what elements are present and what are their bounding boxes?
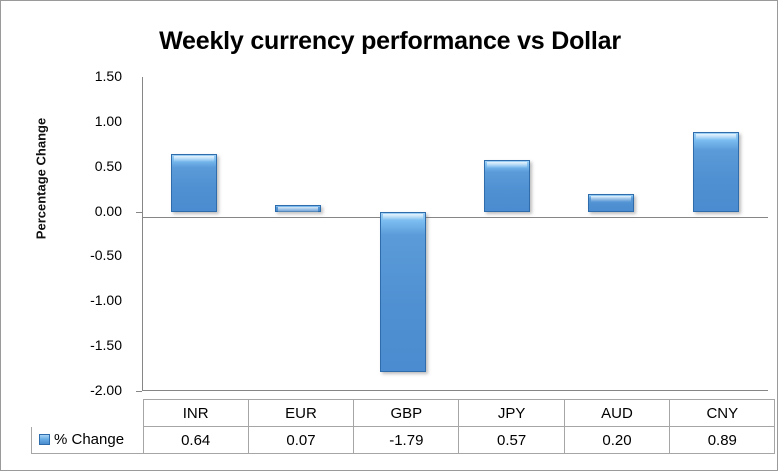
table-value-cny: 0.89 xyxy=(670,427,775,454)
legend-series-label: % Change xyxy=(54,431,124,448)
bar-jpy[interactable] xyxy=(484,160,530,211)
y-axis-tick-label: -1.00 xyxy=(52,292,122,308)
table-value-jpy: 0.57 xyxy=(459,427,564,454)
bar-slot-jpy xyxy=(455,77,559,391)
bars-layer xyxy=(142,77,768,391)
table-category-eur: EUR xyxy=(248,400,353,427)
chart-title: Weekly currency performance vs Dollar xyxy=(1,27,778,56)
y-axis-title: Percentage Change xyxy=(34,79,49,279)
bar-slot-inr xyxy=(142,77,246,391)
table-value-aud: 0.20 xyxy=(564,427,669,454)
legend-series-cell[interactable]: % Change xyxy=(32,427,144,454)
table-category-aud: AUD xyxy=(564,400,669,427)
bar-eur[interactable] xyxy=(275,205,321,211)
table-category-cny: CNY xyxy=(670,400,775,427)
bar-cny[interactable] xyxy=(693,132,739,212)
y-axis-tick-label: 0.50 xyxy=(52,158,122,174)
chart-screenshot: Weekly currency performance vs Dollar Pe… xyxy=(0,0,778,471)
y-axis-tick-mark xyxy=(136,391,142,392)
y-axis-tick-label: 0.00 xyxy=(52,203,122,219)
bar-aud[interactable] xyxy=(588,194,634,212)
table-row-values: % Change 0.640.07-1.790.570.200.89 xyxy=(32,427,775,454)
table-value-eur: 0.07 xyxy=(248,427,353,454)
y-axis-tick-label: -0.50 xyxy=(52,247,122,263)
table-category-gbp: GBP xyxy=(354,400,459,427)
bar-slot-aud xyxy=(559,77,663,391)
table-row-categories: INREURGBPJPYAUDCNY xyxy=(32,400,775,427)
y-axis-tick-label: 1.50 xyxy=(52,68,122,84)
bar-slot-cny xyxy=(664,77,768,391)
table-category-jpy: JPY xyxy=(459,400,564,427)
y-axis-tick-label: -1.50 xyxy=(52,337,122,353)
table-value-inr: 0.64 xyxy=(143,427,248,454)
bar-slot-eur xyxy=(246,77,350,391)
table-category-inr: INR xyxy=(143,400,248,427)
bar-inr[interactable] xyxy=(171,154,217,211)
table-corner-cell xyxy=(32,400,144,427)
plot-area: 1.501.000.500.00-0.50-1.00-1.50-2.00 xyxy=(142,77,768,391)
bar-gbp[interactable] xyxy=(380,212,426,373)
y-axis-tick-label: -2.00 xyxy=(52,382,122,398)
bar-slot-gbp xyxy=(351,77,455,391)
y-axis-tick-label: 1.00 xyxy=(52,113,122,129)
table-value-gbp: -1.79 xyxy=(354,427,459,454)
legend-swatch-icon xyxy=(39,434,50,445)
chart-data-table: INREURGBPJPYAUDCNY % Change 0.640.07-1.7… xyxy=(31,399,775,454)
